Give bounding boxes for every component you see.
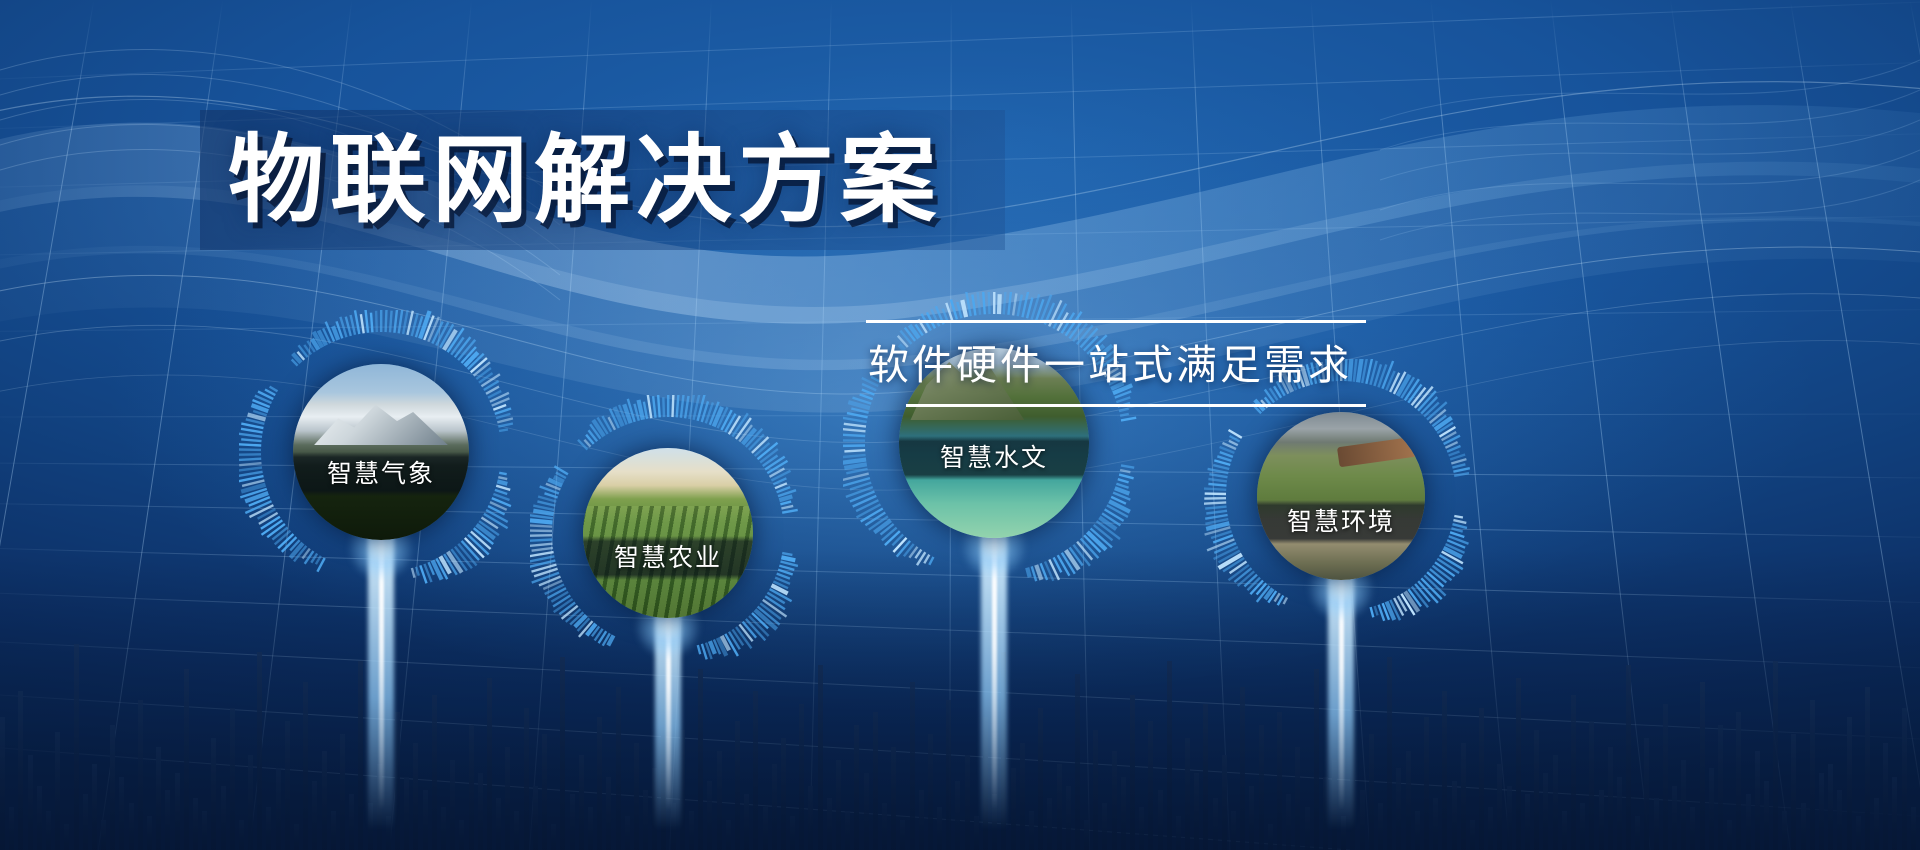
subtitle-rule-top — [866, 320, 1366, 323]
page-subtitle: 软件硬件一站式满足需求 — [868, 332, 1408, 398]
solution-node-1[interactable]: 智慧气象 — [239, 310, 523, 594]
node-label: 智慧环境 — [1257, 500, 1425, 544]
page-title: 物联网解决方案 — [228, 116, 1088, 246]
node-label: 智慧农业 — [583, 536, 753, 580]
subtitle-rule-bottom — [906, 404, 1366, 407]
node-label: 智慧气象 — [293, 452, 469, 496]
node-photo[interactable]: 智慧农业 — [583, 448, 753, 618]
node-photo[interactable]: 智慧气象 — [293, 364, 469, 540]
bottom-shade — [0, 550, 1920, 850]
scene-image — [583, 448, 753, 618]
scene-image — [1257, 412, 1425, 580]
solution-node-4[interactable]: 智慧环境 — [1204, 359, 1478, 633]
node-label: 智慧水文 — [899, 436, 1089, 480]
hero-banner: 智慧气象智慧农业智慧水文智慧环境 物联网解决方案 软件硬件一站式满足需求 — [0, 0, 1920, 850]
node-photo[interactable]: 智慧环境 — [1257, 412, 1425, 580]
solution-node-2[interactable]: 智慧农业 — [530, 395, 806, 671]
